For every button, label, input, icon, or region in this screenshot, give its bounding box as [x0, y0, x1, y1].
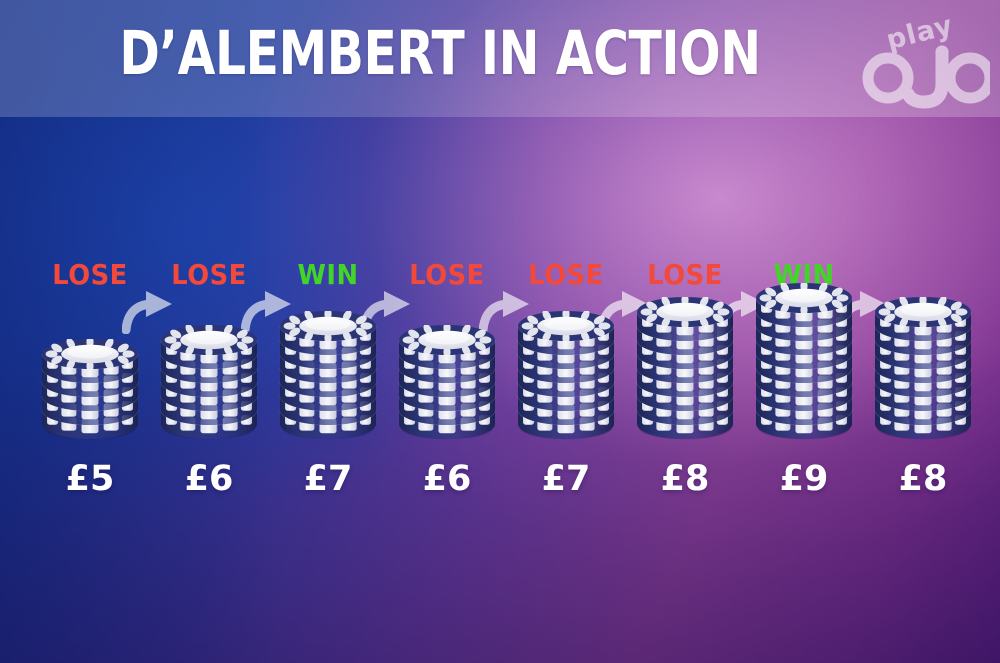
- amount-label-2: £6: [149, 459, 269, 499]
- amount-label-3: £7: [268, 459, 388, 499]
- amount-label-row: £5£6£7£6£7£8£9£8: [0, 0, 1000, 663]
- infographic-canvas: D’ALEMBERT IN ACTION play LOSELOSEWINLOS…: [0, 0, 1000, 663]
- amount-label-8: £8: [863, 459, 983, 499]
- amount-label-6: £8: [625, 459, 745, 499]
- amount-label-7: £9: [744, 459, 864, 499]
- amount-label-4: £6: [387, 459, 507, 499]
- amount-label-5: £7: [506, 459, 626, 499]
- amount-label-1: £5: [30, 459, 150, 499]
